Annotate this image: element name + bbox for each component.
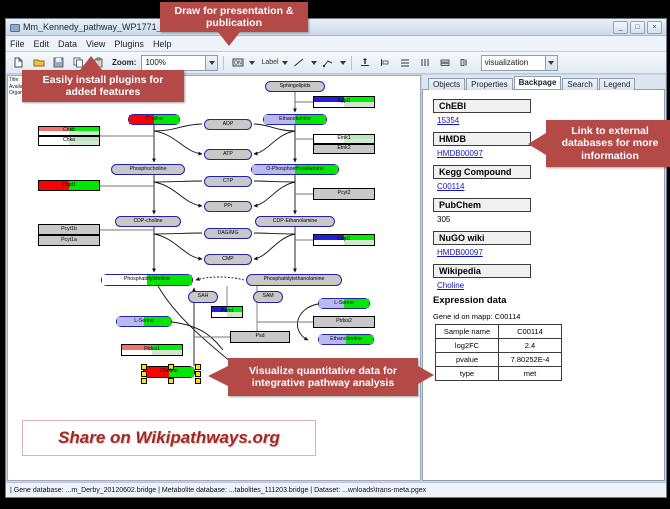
window-controls[interactable]: _ □ × bbox=[613, 21, 663, 34]
database-block: WikipediaCholine bbox=[433, 261, 664, 290]
zoom-value: 100% bbox=[145, 58, 165, 67]
node-label: Phosphatidylcholine bbox=[124, 277, 170, 282]
database-link[interactable]: Choline bbox=[433, 279, 664, 290]
new-icon[interactable] bbox=[10, 54, 27, 71]
selected-node[interactable]: Choline bbox=[143, 366, 195, 378]
callout-plugins: Easily install plugins for added feature… bbox=[22, 70, 184, 102]
label-tool-label: Label bbox=[261, 59, 278, 66]
gene-node[interactable]: Pcyt1a bbox=[38, 235, 100, 246]
node-label: Ethanolamine bbox=[279, 117, 311, 122]
node-label: Psd bbox=[256, 334, 265, 339]
database-name: Kegg Compound bbox=[433, 165, 531, 179]
gene-node[interactable]: Cept1 bbox=[313, 234, 375, 246]
open-icon[interactable] bbox=[30, 54, 47, 71]
interaction-chevron-icon[interactable] bbox=[340, 61, 346, 65]
datanode-icon[interactable]: DN bbox=[229, 54, 246, 71]
node-label: PPi bbox=[224, 204, 232, 209]
metabolite-node[interactable]: O-Phosphoethanolamine bbox=[251, 164, 339, 175]
callout-expression-arrow-icon bbox=[418, 366, 434, 384]
tab-objects[interactable]: Objects bbox=[428, 78, 465, 90]
database-link[interactable]: HMDB00097 bbox=[433, 246, 664, 257]
label-chevron-icon[interactable] bbox=[282, 61, 288, 65]
node-label: SAH bbox=[198, 294, 209, 299]
cofactor-node[interactable]: PPi bbox=[204, 201, 252, 212]
maximize-button[interactable]: □ bbox=[630, 21, 645, 34]
node-label: CTP bbox=[223, 179, 233, 184]
gene-node[interactable]: Psd bbox=[230, 331, 290, 343]
table-row: pvalue7.80252E-4 bbox=[436, 353, 562, 367]
node-label: Choline bbox=[145, 117, 163, 122]
cofactor-node[interactable]: DAG/MG bbox=[204, 228, 252, 239]
stack-icon[interactable] bbox=[437, 54, 454, 71]
line-chevron-icon[interactable] bbox=[311, 61, 317, 65]
status-bar: | Gene database: ...m_Derby_20120602.bri… bbox=[6, 482, 666, 497]
menu-item-help[interactable]: Help bbox=[153, 39, 172, 49]
gene-node[interactable]: Etnk1 bbox=[313, 134, 375, 144]
selection-handle[interactable] bbox=[168, 378, 174, 384]
callout-links: Link to external databases for more info… bbox=[546, 120, 670, 167]
node-label: CDP-choline bbox=[133, 219, 162, 224]
expression-data-heading: Expression data bbox=[433, 295, 664, 306]
metabolite-node[interactable]: Phosphatidylcholine bbox=[101, 274, 193, 286]
expression-value: 2.4 bbox=[499, 339, 562, 353]
menu-item-data[interactable]: Data bbox=[58, 39, 77, 49]
gene-node[interactable]: Etnk2 bbox=[313, 144, 375, 154]
callout-share: Share on Wikipathways.org bbox=[22, 420, 316, 456]
database-name: PubChem bbox=[433, 198, 531, 212]
table-row: typemet bbox=[436, 367, 562, 381]
callout-plugins-arrow-icon bbox=[80, 56, 102, 70]
node-label: Phosphatidylethanolamine bbox=[264, 277, 325, 282]
node-label: O-Phosphoethanolamine bbox=[266, 167, 323, 172]
node-label: Chka bbox=[63, 138, 75, 143]
node-label: Ptdss2 bbox=[336, 319, 352, 324]
database-name: ChEBI bbox=[433, 99, 531, 113]
align-left-icon[interactable] bbox=[377, 54, 394, 71]
database-name: NuGO wiki bbox=[433, 231, 531, 245]
title-bar: Mm_Kennedy_pathway_WP1771_45176.gpml _ □… bbox=[6, 19, 666, 36]
cofactor-node[interactable]: CTP bbox=[204, 176, 252, 187]
metabolite-node[interactable]: Ethanolamine bbox=[318, 334, 374, 345]
status-text: | Gene database: ...m_Derby_20120602.bri… bbox=[6, 487, 426, 494]
cofactor-node[interactable]: CMP bbox=[204, 254, 252, 265]
callout-links-arrow-icon bbox=[528, 133, 546, 155]
callout-visualize-text: Visualize quantitative data for integrat… bbox=[232, 365, 414, 389]
metabolite-node[interactable]: CDP-Ethanolamine bbox=[255, 216, 335, 227]
expression-value: met bbox=[499, 367, 562, 381]
menu-item-view[interactable]: View bbox=[86, 39, 105, 49]
expression-key: Sample name bbox=[436, 325, 499, 339]
visualization-chevron-icon[interactable] bbox=[545, 56, 557, 70]
tab-legend[interactable]: Legend bbox=[599, 78, 636, 90]
database-link[interactable]: C00114 bbox=[433, 180, 664, 191]
line-tool-icon[interactable] bbox=[291, 54, 308, 71]
node-label: L-Serine bbox=[134, 319, 154, 324]
gene-id-line: Gene id on mapp: C00114 bbox=[433, 312, 664, 321]
chevron-down-icon[interactable] bbox=[205, 56, 217, 70]
node-label: Cept1 bbox=[337, 237, 351, 242]
node-label: Sgpl1 bbox=[337, 99, 350, 104]
visualization-value: visualization bbox=[485, 58, 529, 67]
expression-table: Sample nameC00114log2FC2.4pvalue7.80252E… bbox=[435, 324, 562, 381]
node-label: Ptdss1 bbox=[144, 347, 160, 352]
node-label: Pcyt1b bbox=[61, 227, 77, 232]
database-value: 305 bbox=[433, 213, 664, 224]
metabolite-node[interactable]: Ethanolamine bbox=[263, 114, 327, 125]
node-label: CDP-Ethanolamine bbox=[273, 219, 317, 224]
close-button[interactable]: × bbox=[647, 21, 662, 34]
selection-handle[interactable] bbox=[195, 364, 201, 370]
gene-node[interactable]: Ptdss1 bbox=[121, 344, 183, 356]
node-label: Sphingolipids bbox=[280, 84, 311, 89]
selection-handle[interactable] bbox=[141, 371, 147, 377]
datanode-chevron-icon[interactable] bbox=[249, 61, 255, 65]
metabolite-node[interactable]: Phosphocholine bbox=[111, 164, 185, 175]
node-label: Etnk1 bbox=[337, 136, 350, 141]
menu-item-edit[interactable]: Edit bbox=[34, 39, 50, 49]
cofactor-node[interactable]: SAH bbox=[188, 291, 218, 303]
expression-value: C00114 bbox=[499, 325, 562, 339]
tab-backpage[interactable]: Backpage bbox=[514, 76, 562, 89]
selection-handle[interactable] bbox=[141, 378, 147, 384]
toolbar-separator-2 bbox=[351, 56, 352, 70]
interaction-tool-icon[interactable] bbox=[320, 54, 337, 71]
node-label: Etnk2 bbox=[337, 146, 350, 151]
save-icon[interactable] bbox=[50, 54, 67, 71]
tab-properties[interactable]: Properties bbox=[466, 78, 512, 90]
database-block: NuGO wikiHMDB00097 bbox=[433, 228, 664, 257]
database-block: PubChem305 bbox=[433, 195, 664, 224]
tab-search[interactable]: Search bbox=[562, 78, 597, 90]
callout-plugins-text: Easily install plugins for added feature… bbox=[26, 74, 180, 98]
table-row: Sample nameC00114 bbox=[436, 325, 562, 339]
callout-draw-text: Draw for presentation & publication bbox=[164, 5, 304, 29]
node-label: SAM bbox=[262, 294, 273, 299]
sidebar-tabs[interactable]: ObjectsPropertiesBackpageSearchLegend bbox=[422, 75, 665, 90]
menu-item-plugins[interactable]: Plugins bbox=[114, 39, 144, 49]
node-label: Phosphocholine bbox=[130, 167, 167, 172]
gene-node[interactable]: Pcyt1b bbox=[38, 224, 100, 235]
gene-node[interactable]: Chpt1 bbox=[38, 180, 100, 191]
visualization-combobox[interactable]: visualization bbox=[481, 55, 558, 71]
callout-visualize-arrow-icon bbox=[208, 366, 228, 386]
svg-text:DN: DN bbox=[234, 61, 242, 67]
database-name: HMDB bbox=[433, 132, 531, 146]
zoom-label: Zoom: bbox=[112, 58, 136, 67]
gene-node[interactable]: Chka bbox=[38, 136, 100, 146]
metabolite-node[interactable]: L-Serine bbox=[116, 316, 172, 327]
callout-draw-arrow-icon bbox=[218, 32, 240, 46]
distribute-vertical-icon[interactable] bbox=[397, 54, 414, 71]
node-label: DAG/MG bbox=[217, 231, 238, 236]
menu-bar[interactable]: File Edit Data View Plugins Help bbox=[6, 36, 666, 52]
callout-draw: Draw for presentation & publication bbox=[160, 2, 308, 32]
distribute-horizontal-icon[interactable] bbox=[417, 54, 434, 71]
minimize-button[interactable]: _ bbox=[613, 21, 628, 34]
node-label: L-Serine bbox=[334, 301, 354, 306]
node-label: Pemt bbox=[221, 309, 233, 314]
expression-key: type bbox=[436, 367, 499, 381]
selection-handle[interactable] bbox=[141, 364, 147, 370]
cofactor-node[interactable]: SAM bbox=[253, 291, 283, 303]
node-label: CMP bbox=[222, 257, 234, 262]
selection-handle[interactable] bbox=[195, 371, 201, 377]
node-label: Chkb bbox=[63, 128, 75, 133]
expression-key: log2FC bbox=[436, 339, 499, 353]
node-label: ADP bbox=[223, 122, 234, 127]
expression-value: 7.80252E-4 bbox=[499, 353, 562, 367]
table-row: log2FC2.4 bbox=[436, 339, 562, 353]
callout-links-text: Link to external databases for more info… bbox=[550, 125, 670, 161]
node-label: Chpt1 bbox=[62, 183, 76, 188]
node-label: Choline bbox=[160, 369, 178, 374]
cofactor-node[interactable]: ATP bbox=[204, 149, 252, 160]
zoom-combobox[interactable]: 100% bbox=[141, 55, 218, 71]
callout-share-text: Share on Wikipathways.org bbox=[58, 428, 280, 448]
metabolite-node[interactable]: Choline bbox=[128, 114, 180, 125]
app-icon bbox=[9, 22, 19, 32]
align-top-icon[interactable] bbox=[357, 54, 374, 71]
gene-node[interactable]: Ptdss2 bbox=[313, 316, 375, 328]
database-name: Wikipedia bbox=[433, 264, 531, 278]
metabolite-node[interactable]: L-Serine bbox=[318, 298, 370, 309]
node-label: ATP bbox=[223, 152, 233, 157]
gene-node[interactable]: Sgpl1 bbox=[313, 96, 375, 108]
toolbar-separator bbox=[223, 56, 224, 70]
callout-visualize: Visualize quantitative data for integrat… bbox=[228, 358, 418, 396]
metabolite-node[interactable]: Sphingolipids bbox=[265, 81, 325, 92]
metabolite-node[interactable]: CDP-choline bbox=[115, 216, 181, 227]
gene-node[interactable]: Chkb bbox=[38, 126, 100, 136]
metabolite-node[interactable]: Phosphatidylethanolamine bbox=[246, 274, 342, 286]
gene-node[interactable]: Pcyt2 bbox=[313, 188, 375, 200]
node-label: Ethanolamine bbox=[330, 337, 362, 342]
cofactor-node[interactable]: ADP bbox=[204, 119, 252, 130]
node-label: Pcyt2 bbox=[338, 191, 351, 196]
gene-node[interactable]: Pemt bbox=[211, 306, 243, 318]
selection-handle[interactable] bbox=[195, 378, 201, 384]
expression-key: pvalue bbox=[436, 353, 499, 367]
node-label: Pcyt1a bbox=[61, 238, 77, 243]
menu-item-file[interactable]: File bbox=[10, 39, 25, 49]
order-icon[interactable] bbox=[457, 54, 474, 71]
